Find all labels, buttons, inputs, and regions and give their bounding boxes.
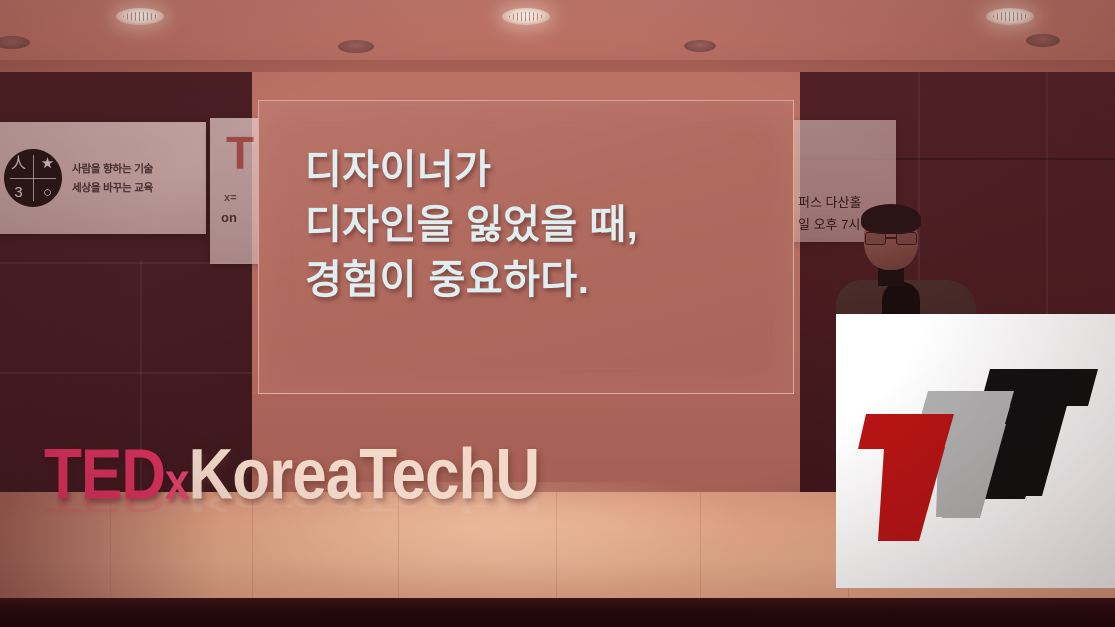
- stage-logo-tedxkoreatechu: TEDxKoreaTechU: [44, 440, 539, 511]
- stage-logo-suffix: KoreaTechU: [188, 435, 539, 514]
- ceiling-light-on-3: [986, 8, 1034, 25]
- ceiling-light-dim-3: [684, 40, 716, 52]
- ceiling-light-on-2: [502, 8, 550, 25]
- banner-left: 人 ★ 3 ○ 사람을 향하는 기술 세상을 바꾸는 교육: [0, 122, 206, 234]
- ttt-logo-overlay: [836, 314, 1115, 588]
- floor-plank-seam: [700, 492, 701, 602]
- ceiling-light-on-1: [116, 8, 164, 25]
- ceiling-light-dim-4: [1026, 34, 1060, 47]
- speaker-glasses-icon: [865, 232, 917, 243]
- emblem-glyph-star: ★: [33, 149, 62, 178]
- light-grill-icon: [993, 12, 1028, 22]
- projection-screen: 디자이너가 디자인을 잃었을 때, 경험이 중요하다.: [258, 100, 794, 394]
- emblem-glyph-circle: ○: [33, 178, 62, 207]
- emblem-glyph-person: 人: [4, 149, 33, 178]
- stage-logo-x: x: [165, 454, 188, 510]
- stage-apron: [0, 598, 1115, 627]
- ttt-logo-icon: [836, 314, 1115, 588]
- light-grill-icon: [123, 12, 158, 22]
- slogan-line-2: 세상을 바꾸는 교육: [72, 180, 153, 195]
- poster-tedx-line-1: x=: [224, 192, 237, 204]
- emblem-glyph-three: 3: [4, 178, 33, 207]
- poster-tedx-line-2: on: [221, 210, 237, 225]
- ceiling-light-dim-2: [338, 40, 374, 53]
- poster-tedx-letter: T: [226, 130, 254, 176]
- slide-text: 디자이너가 디자인을 잃었을 때, 경험이 중요하다.: [305, 143, 638, 309]
- glasses-lens-right: [896, 232, 917, 245]
- speaker-hair: [861, 204, 921, 234]
- slogan-line-1: 사람을 향하는 기술: [72, 161, 153, 176]
- glasses-lens-left: [865, 232, 886, 245]
- stage-logo-ted: TED: [44, 435, 165, 514]
- floor-plank-seam: [556, 492, 557, 602]
- institution-emblem-icon: 人 ★ 3 ○: [4, 149, 62, 207]
- banner-left-slogan: 사람을 향하는 기술 세상을 바꾸는 교육: [72, 161, 153, 195]
- wall-seam: [0, 372, 252, 374]
- video-frame: 人 ★ 3 ○ 사람을 향하는 기술 세상을 바꾸는 교육 T x= on 퍼스…: [0, 0, 1115, 627]
- glasses-bridge: [885, 237, 897, 239]
- light-grill-icon: [509, 12, 544, 22]
